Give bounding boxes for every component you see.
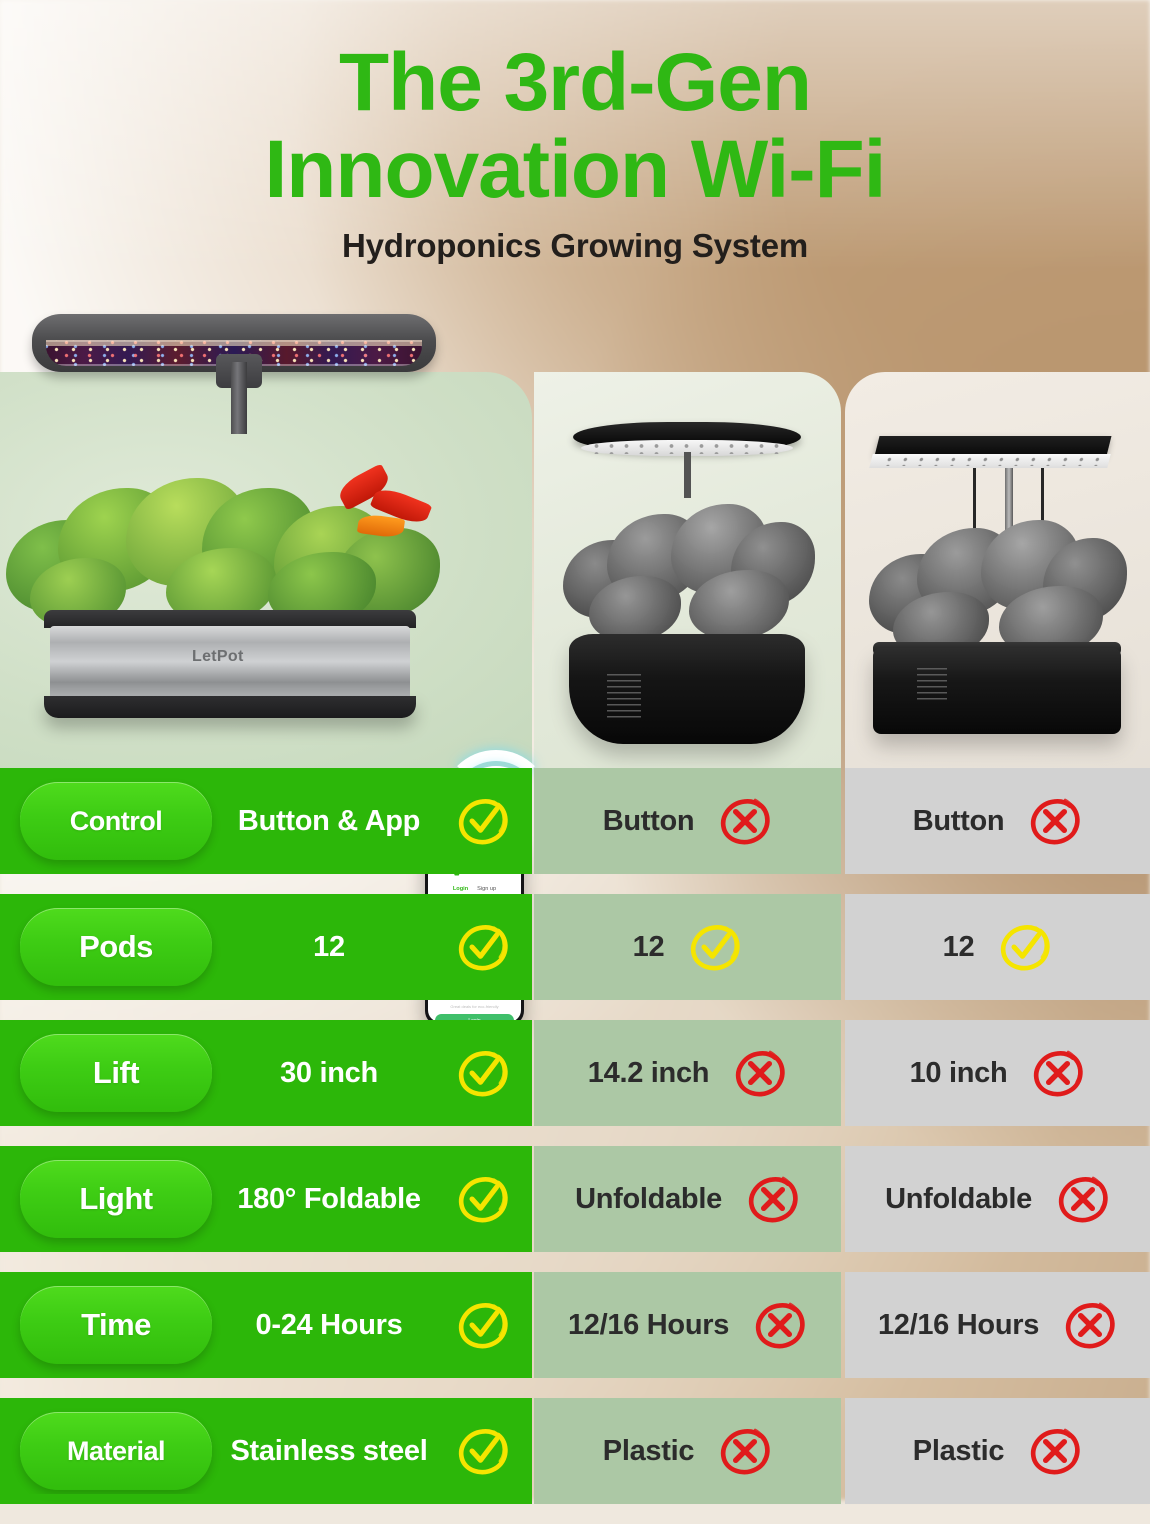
row-4-competitor3-value: 12/16 Hours [878, 1309, 1039, 1342]
row-5-competitor2-icon [718, 1424, 772, 1478]
competitor-2-plants [563, 500, 811, 652]
competitor-3-light-panel [875, 436, 1112, 456]
row-label-pill: Lift [20, 1034, 212, 1112]
row-label-pill: Time [20, 1286, 212, 1364]
cross-icon [1028, 794, 1082, 848]
row-0-competitor3-value: Button [913, 805, 1005, 838]
row-3-competitor3-value: Unfoldable [885, 1183, 1032, 1216]
row-1-letpot-cell: Pods 12 [0, 894, 532, 1000]
row-1-competitor2-icon [688, 920, 742, 974]
competitor-product-2-image [545, 412, 830, 760]
table-row: Pods 12 12 12 [0, 894, 1150, 1000]
cross-icon [1056, 1172, 1110, 1226]
product-showcase: LetPot [0, 292, 1150, 768]
row-3-letpot-value: 180° Foldable [212, 1183, 446, 1216]
row-label: Light [79, 1181, 152, 1217]
row-4-competitor2-value: 12/16 Hours [568, 1309, 729, 1342]
table-row: Material Stainless steel Plastic Plastic [0, 1398, 1150, 1504]
competitor-2-base [569, 634, 805, 744]
check-icon [456, 1298, 510, 1352]
row-0-competitor3-icon [1028, 794, 1082, 848]
competitor-3-water-gauge [917, 668, 947, 704]
row-2-letpot-cell: Lift 30 inch [0, 1020, 532, 1126]
row-3-competitor2-icon [746, 1172, 800, 1226]
page-subtitle: Hydroponics Growing System [0, 227, 1150, 265]
check-icon [456, 1424, 510, 1478]
cross-icon [1031, 1046, 1085, 1100]
row-4-competitor3-icon [1063, 1298, 1117, 1352]
check-icon [456, 794, 510, 848]
stainless-steel-planter: LetPot [44, 610, 416, 718]
row-2-letpot-value: 30 inch [212, 1057, 446, 1090]
row-1-letpot-value: 12 [212, 931, 446, 964]
row-2-competitor3-value: 10 inch [910, 1057, 1008, 1090]
check-icon [456, 1172, 510, 1226]
competitor-3-plants [869, 518, 1125, 658]
competitor-3-base [873, 648, 1121, 734]
row-2-competitor3-cell: 10 inch [845, 1020, 1150, 1126]
row-5-competitor2-cell: Plastic [534, 1398, 841, 1504]
comparison-table: Control Button & App Button Button Pods … [0, 768, 1150, 1524]
light-pole [231, 362, 247, 434]
title-line-2: Innovation Wi-Fi [0, 131, 1150, 210]
row-2-competitor2-cell: 14.2 inch [534, 1020, 841, 1126]
table-row: Light 180° Foldable Unfoldable Unfoldabl… [0, 1146, 1150, 1252]
plant-foliage [6, 472, 458, 622]
row-5-competitor3-value: Plastic [913, 1435, 1004, 1468]
table-row: Control Button & App Button Button [0, 768, 1150, 874]
row-0-letpot-cell: Control Button & App [0, 768, 532, 874]
row-5-letpot-value: Stainless steel [212, 1435, 446, 1468]
row-label: Pods [79, 929, 153, 965]
header: The 3rd-Gen Innovation Wi-Fi Hydroponics… [0, 0, 1150, 265]
check-icon [998, 920, 1052, 974]
row-0-competitor2-value: Button [603, 805, 695, 838]
row-4-letpot-cell: Time 0-24 Hours [0, 1272, 532, 1378]
footer-accent-strip [0, 1494, 532, 1500]
row-1-letpot-icon [456, 920, 510, 974]
row-4-letpot-icon [456, 1298, 510, 1352]
row-label: Control [70, 806, 162, 837]
row-0-competitor2-cell: Button [534, 768, 841, 874]
row-3-letpot-cell: Light 180° Foldable [0, 1146, 532, 1252]
row-1-competitor3-icon [998, 920, 1052, 974]
row-3-letpot-icon [456, 1172, 510, 1226]
check-icon [688, 920, 742, 974]
row-4-letpot-value: 0-24 Hours [212, 1309, 446, 1342]
table-row: Time 0-24 Hours 12/16 Hours 12/16 Hours [0, 1272, 1150, 1378]
row-3-competitor2-cell: Unfoldable [534, 1146, 841, 1252]
row-2-letpot-icon [456, 1046, 510, 1100]
row-2-competitor2-icon [733, 1046, 787, 1100]
row-2-competitor2-value: 14.2 inch [588, 1057, 709, 1090]
check-icon [456, 1046, 510, 1100]
row-5-competitor3-icon [1028, 1424, 1082, 1478]
row-1-competitor3-value: 12 [943, 931, 975, 964]
cross-icon [753, 1298, 807, 1352]
row-5-competitor3-cell: Plastic [845, 1398, 1150, 1504]
cross-icon [718, 1424, 772, 1478]
table-row: Lift 30 inch 14.2 inch 10 inch [0, 1020, 1150, 1126]
check-icon [456, 920, 510, 974]
row-1-competitor2-value: 12 [633, 931, 665, 964]
page-title: The 3rd-Gen Innovation Wi-Fi [0, 0, 1150, 209]
row-label: Material [67, 1436, 165, 1467]
cross-icon [718, 794, 772, 848]
row-0-competitor2-icon [718, 794, 772, 848]
row-4-competitor3-cell: 12/16 Hours [845, 1272, 1150, 1378]
row-label-pill: Control [20, 782, 212, 860]
row-5-letpot-cell: Material Stainless steel [0, 1398, 532, 1504]
letpot-brand-logo: LetPot [192, 648, 244, 666]
row-5-competitor2-value: Plastic [603, 1435, 694, 1468]
cross-icon [1063, 1298, 1117, 1352]
competitor-product-3-image [855, 410, 1140, 762]
row-label-pill: Material [20, 1412, 212, 1490]
row-4-competitor2-cell: 12/16 Hours [534, 1272, 841, 1378]
cross-icon [1028, 1424, 1082, 1478]
row-1-competitor2-cell: 12 [534, 894, 841, 1000]
row-1-competitor3-cell: 12 [845, 894, 1150, 1000]
row-3-competitor3-cell: Unfoldable [845, 1146, 1150, 1252]
row-4-competitor2-icon [753, 1298, 807, 1352]
cross-icon [746, 1172, 800, 1226]
row-label-pill: Light [20, 1160, 212, 1238]
row-0-letpot-value: Button & App [212, 805, 446, 838]
title-line-1: The 3rd-Gen [339, 37, 811, 128]
row-0-letpot-icon [456, 794, 510, 848]
row-label: Lift [93, 1055, 139, 1091]
hero-product-image: LetPot [0, 292, 532, 768]
row-label: Time [81, 1307, 151, 1343]
row-2-competitor3-icon [1031, 1046, 1085, 1100]
row-0-competitor3-cell: Button [845, 768, 1150, 874]
row-5-letpot-icon [456, 1424, 510, 1478]
row-3-competitor3-icon [1056, 1172, 1110, 1226]
competitor-2-water-gauge [607, 674, 641, 720]
row-label-pill: Pods [20, 908, 212, 986]
cross-icon [733, 1046, 787, 1100]
row-3-competitor2-value: Unfoldable [575, 1183, 722, 1216]
